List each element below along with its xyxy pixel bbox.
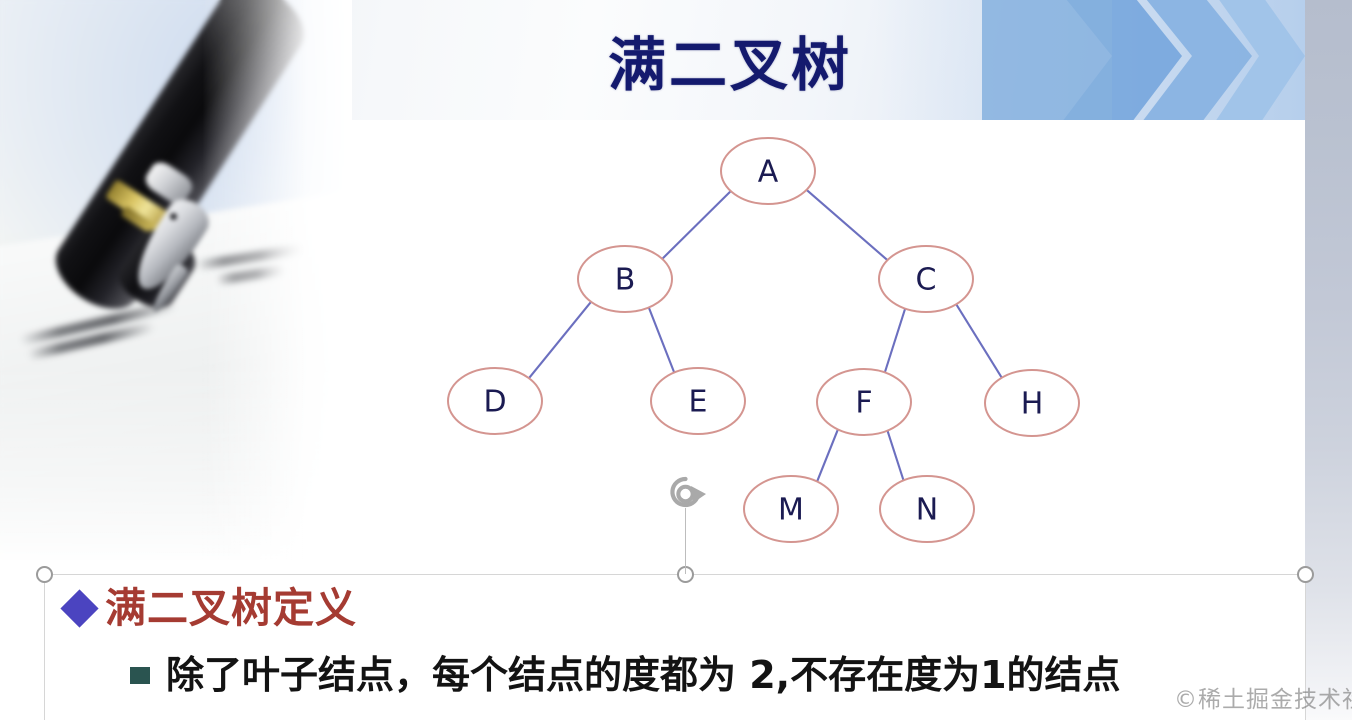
tree-node-label: C xyxy=(916,263,937,298)
chevron-decoration-3 xyxy=(1215,0,1305,122)
tree-node-H: H xyxy=(985,370,1079,436)
tree-node-label: H xyxy=(1021,387,1044,422)
tree-node-label: N xyxy=(916,493,938,528)
selection-handle-top-right[interactable] xyxy=(1297,566,1314,583)
tree-edge-F-M xyxy=(817,428,839,482)
slide-title: 满二叉树 xyxy=(520,18,940,102)
definition-heading-row: 满二叉树定义 xyxy=(66,588,357,629)
definition-heading: 满二叉树定义 xyxy=(105,588,357,629)
tree-node-label: D xyxy=(483,385,506,420)
tree-node-label: B xyxy=(615,263,636,298)
tree-node-label: A xyxy=(758,155,779,190)
tree-node-F: F xyxy=(817,369,911,435)
tree-node-D: D xyxy=(448,368,542,434)
tree-node-B: B xyxy=(578,246,672,312)
tree-nodes: ABCDEFHMN xyxy=(448,138,1079,542)
right-gradient-strip xyxy=(1305,0,1352,720)
tree-node-N: N xyxy=(880,476,974,542)
tree-node-M: M xyxy=(744,476,838,542)
tree-node-E: E xyxy=(651,368,745,434)
fountain-pen-photo xyxy=(0,0,352,560)
tree-edge-B-E xyxy=(648,306,674,373)
square-bullet-icon xyxy=(130,667,150,684)
rotate-handle-stem xyxy=(685,508,686,574)
chevron-decoration-4 xyxy=(982,0,1112,122)
tree-edge-A-B xyxy=(661,190,731,259)
tree-node-label: E xyxy=(689,385,708,420)
selection-handle-top-left[interactable] xyxy=(36,566,53,583)
tree-edge-A-C xyxy=(806,189,889,261)
tree-node-A: A xyxy=(721,138,815,204)
tree-node-C: C xyxy=(879,246,973,312)
bullet-text: 除了叶子结点，每个结点的度都为 2,不存在度为1的结点 xyxy=(166,655,1121,697)
tree-edge-B-D xyxy=(528,301,592,379)
bullet-row: 除了叶子结点，每个结点的度都为 2,不存在度为1的结点 xyxy=(130,655,1121,697)
tree-node-label: M xyxy=(778,493,804,528)
diamond-bullet-icon xyxy=(60,589,98,627)
powerpoint-slide: 满二叉树 ABCDEFHMN 满二叉树定义 除了叶子结点，每个结点的度都为 2,… xyxy=(0,0,1352,720)
tree-node-label: F xyxy=(855,386,872,421)
tree-edge-C-F xyxy=(885,308,906,374)
tree-edge-F-N xyxy=(887,430,904,482)
binary-tree-diagram: ABCDEFHMN xyxy=(420,125,1120,565)
tree-edge-C-H xyxy=(956,303,1003,378)
tree-edges xyxy=(528,189,1002,482)
rotate-handle-icon[interactable] xyxy=(662,473,708,515)
